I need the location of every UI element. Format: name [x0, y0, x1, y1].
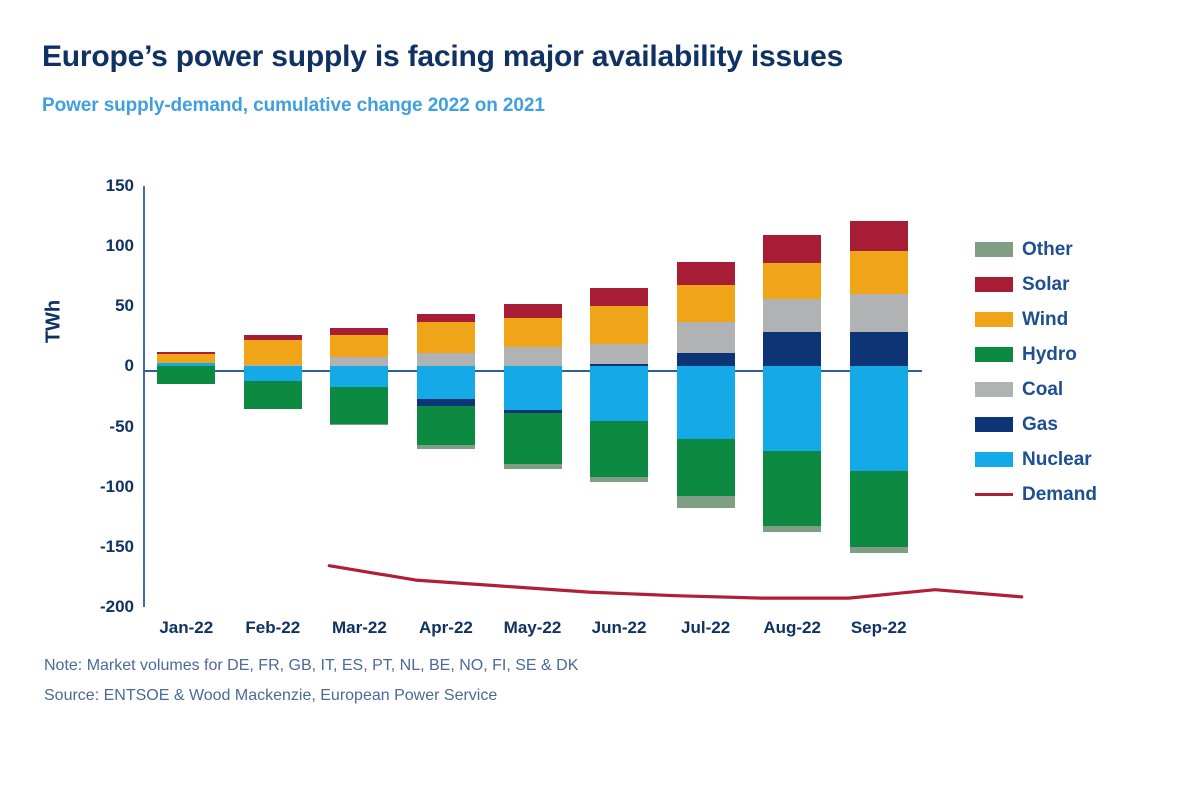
bar-segment-hydro[interactable]: [763, 451, 821, 527]
bar-group[interactable]: Aug-22: [763, 186, 821, 607]
bar-segment-coal[interactable]: [590, 344, 648, 364]
bar-segment-wind[interactable]: [677, 285, 735, 322]
note-text: Note: Market volumes for DE, FR, GB, IT,…: [44, 657, 578, 675]
page-title: Europe’s power supply is facing major av…: [42, 40, 843, 74]
bar-group[interactable]: Jun-22: [590, 186, 648, 607]
legend-label: Wind: [1022, 310, 1068, 329]
bar-segment-solar[interactable]: [330, 328, 388, 335]
bar-segment-coal[interactable]: [417, 353, 475, 366]
bar-segment-solar[interactable]: [677, 262, 735, 285]
bar-segment-nuclear[interactable]: [677, 366, 735, 438]
bar-group[interactable]: May-22: [504, 186, 562, 607]
bar-segment-other[interactable]: [330, 424, 388, 425]
bar-group[interactable]: Jan-22: [157, 186, 215, 607]
bar-segment-other[interactable]: [590, 477, 648, 482]
bar-segment-wind[interactable]: [590, 306, 648, 343]
chart-page: Europe’s power supply is facing major av…: [0, 0, 1200, 720]
legend-swatch-nuclear: [975, 452, 1013, 467]
legend-swatch-gas: [975, 417, 1013, 432]
y-tick-label: -50: [64, 417, 134, 437]
bar-segment-nuclear[interactable]: [763, 366, 821, 450]
bar-segment-solar[interactable]: [850, 221, 908, 251]
bar-segment-coal[interactable]: [850, 294, 908, 331]
bar-segment-coal[interactable]: [763, 299, 821, 331]
legend-label: Coal: [1022, 380, 1063, 399]
legend-swatch-wind: [975, 312, 1013, 327]
bar-segment-nuclear[interactable]: [590, 366, 648, 420]
legend-label: Gas: [1022, 415, 1058, 434]
bar-segment-hydro[interactable]: [244, 381, 302, 409]
legend-item-wind[interactable]: Wind: [975, 302, 1185, 337]
bar-group[interactable]: Apr-22: [417, 186, 475, 607]
bar-segment-hydro[interactable]: [850, 471, 908, 547]
bar-segment-wind[interactable]: [850, 251, 908, 294]
bar-segment-solar[interactable]: [417, 314, 475, 322]
bar-segment-coal[interactable]: [330, 357, 388, 367]
bar-segment-other[interactable]: [417, 445, 475, 450]
legend-swatch-hydro: [975, 347, 1013, 362]
bar-segment-wind[interactable]: [244, 340, 302, 365]
legend-label: Hydro: [1022, 345, 1077, 364]
bar-segment-other[interactable]: [850, 547, 908, 553]
bar-segment-other[interactable]: [763, 526, 821, 532]
bar-segment-solar[interactable]: [504, 304, 562, 318]
bar-segment-nuclear[interactable]: [504, 366, 562, 409]
legend-item-demand[interactable]: Demand: [975, 477, 1185, 512]
legend-label: Demand: [1022, 485, 1097, 504]
legend-item-solar[interactable]: Solar: [975, 267, 1185, 302]
bar-segment-wind[interactable]: [157, 354, 215, 362]
bar-segment-coal[interactable]: [677, 322, 735, 353]
bar-segment-other[interactable]: [504, 464, 562, 469]
bar-segment-hydro[interactable]: [504, 413, 562, 464]
y-tick-label: 0: [64, 356, 134, 376]
bar-segment-gas[interactable]: [763, 332, 821, 367]
legend-swatch-solar: [975, 277, 1013, 292]
bar-group[interactable]: Feb-22: [244, 186, 302, 607]
bar-segment-solar[interactable]: [244, 335, 302, 340]
bar-segment-solar[interactable]: [157, 352, 215, 354]
bar-group[interactable]: Jul-22: [677, 186, 735, 607]
bar-segment-solar[interactable]: [590, 288, 648, 306]
bar-segment-nuclear[interactable]: [244, 366, 302, 380]
bar-segment-wind[interactable]: [504, 318, 562, 347]
x-tick-label: Sep-22: [819, 618, 939, 638]
bar-segment-nuclear[interactable]: [417, 366, 475, 398]
demand-line-series: [286, 372, 1065, 793]
bar-segment-solar[interactable]: [763, 235, 821, 263]
legend-label: Nuclear: [1022, 450, 1092, 469]
bar-segment-nuclear[interactable]: [330, 366, 388, 386]
y-tick-label: 100: [64, 236, 134, 256]
y-tick-label: -150: [64, 537, 134, 557]
bar-segment-hydro[interactable]: [330, 387, 388, 424]
bar-segment-other[interactable]: [677, 496, 735, 508]
bar-segment-wind[interactable]: [763, 263, 821, 299]
bar-segment-gas[interactable]: [677, 353, 735, 366]
legend-swatch-other: [975, 242, 1013, 257]
bar-group[interactable]: Mar-22: [330, 186, 388, 607]
y-axis-title: TWh: [43, 262, 66, 382]
bar-segment-hydro[interactable]: [417, 406, 475, 444]
bar-segment-wind[interactable]: [330, 335, 388, 357]
bar-segment-wind[interactable]: [417, 322, 475, 353]
plot-area: Jan-22Feb-22Mar-22Apr-22May-22Jun-22Jul-…: [143, 186, 922, 607]
legend-item-hydro[interactable]: Hydro: [975, 337, 1185, 372]
legend-item-coal[interactable]: Coal: [975, 372, 1185, 407]
y-axis-tick-labels: 150100500-50-100-150-200: [56, 0, 134, 720]
y-tick-label: 50: [64, 296, 134, 316]
y-tick-label: -100: [64, 477, 134, 497]
legend-label: Solar: [1022, 275, 1070, 294]
bar-segment-hydro[interactable]: [590, 421, 648, 478]
bar-segment-gas[interactable]: [850, 332, 908, 367]
legend-item-nuclear[interactable]: Nuclear: [975, 442, 1185, 477]
legend-item-gas[interactable]: Gas: [975, 407, 1185, 442]
legend-swatch-coal: [975, 382, 1013, 397]
bar-segment-hydro[interactable]: [157, 366, 215, 384]
bar-segment-gas[interactable]: [417, 399, 475, 406]
bar-segment-hydro[interactable]: [677, 439, 735, 497]
legend-label: Other: [1022, 240, 1073, 259]
bar-segment-nuclear[interactable]: [850, 366, 908, 471]
legend: OtherSolarWindHydroCoalGasNuclearDemand: [975, 232, 1185, 512]
bar-segment-coal[interactable]: [504, 347, 562, 366]
bar-group[interactable]: Sep-22: [850, 186, 908, 607]
legend-item-other[interactable]: Other: [975, 232, 1185, 267]
y-tick-label: 150: [64, 176, 134, 196]
y-tick-label: -200: [64, 597, 134, 617]
legend-swatch-demand: [975, 487, 1013, 502]
source-text: Source: ENTSOE & Wood Mackenzie, Europea…: [44, 687, 497, 705]
